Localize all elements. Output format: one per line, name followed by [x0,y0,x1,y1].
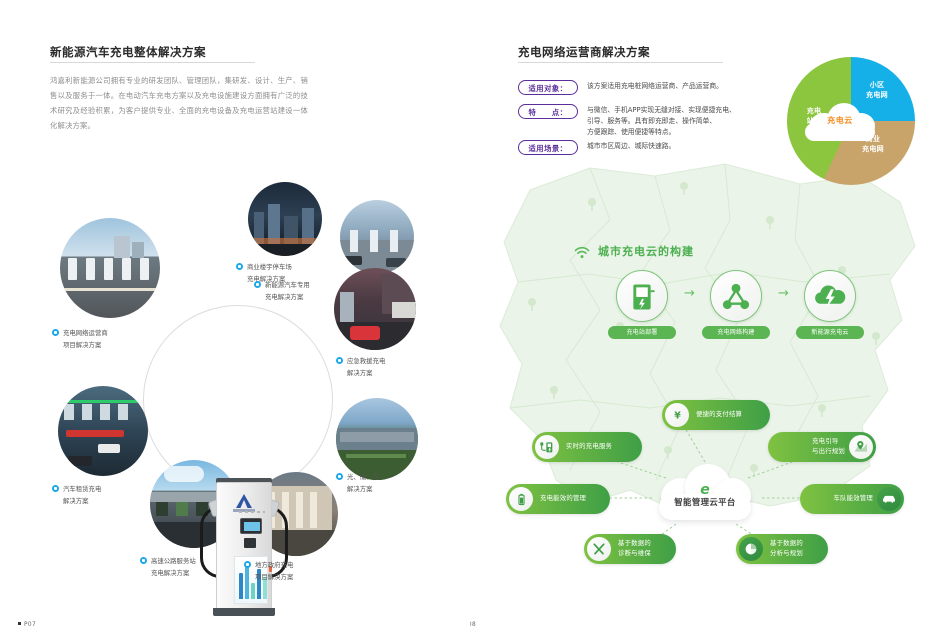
right-page-title: 充电网络运营商解决方案 [518,44,650,60]
caption-car-rental-charging: 汽车租赁充电 解决方案 [52,484,101,508]
capability-label: 充电能效的管理 [540,494,586,504]
capability-realtime-charging-service[interactable]: 实时的充电服务 [532,432,642,462]
cloud-center-badge: 充电云 [801,101,879,141]
brochure-spread: 新能源汽车充电整体解决方案 鸿嘉利新能源公司拥有专业的研发团队、管理团队，集研发… [0,0,940,642]
marker-icon [236,263,243,270]
capability-fleet-efficiency-management[interactable]: 车队能效管理 [800,484,904,514]
capability-energy-efficiency-management[interactable]: 充电能效的管理 [506,484,610,514]
charger-base [213,608,275,616]
capability-data-analysis-planning[interactable]: 基于数据的 分析与规划 [736,534,828,564]
caption-new-energy-vehicle-dedicated: 新能源汽车专用 充电解决方案 [254,280,310,304]
caption-highway-service-area: 高速公路服务站 充电解决方案 [140,556,196,580]
photo-new-energy-vehicle-dedicated [340,200,414,274]
spec-label: 适用对象： [518,80,578,95]
marker-icon [52,485,59,492]
marker-icon [140,557,147,564]
marker-icon [336,473,343,480]
spec-target-audience: 适用对象：该方案适用充电桩网络运营商、产品运营商。 [518,80,723,95]
spec-value: 该方案适用充电桩网络运营商、产品运营商。 [587,80,723,92]
cloud-center-label: 充电云 [801,115,879,126]
marker-icon [52,329,59,336]
charger-display-screen [240,518,262,534]
left-page: 新能源汽车充电整体解决方案 鸿嘉利新能源公司拥有专业的研发团队、管理团队，集研发… [0,0,470,642]
page-number-right: P08 [470,622,476,628]
spec-value: 与微信、手机APP实现无缝对接、实现便捷充电、 引导、服务等。具有即充即走、操作… [587,104,736,138]
section-title: 城市充电云的构建 [598,243,694,259]
capability-label: 车队能效管理 [833,494,873,504]
spec-scenarios: 适用场景：城市市区周边、城际快速路。 [518,140,675,155]
arrow-icon-2: → [778,286,789,301]
capability-label: 实时的充电服务 [566,442,612,452]
pie-chart-icon [739,537,763,561]
caption-charging-network-operator: 充电网络运营商 项目解决方案 [52,328,108,352]
capability-label: 基于数据的 诊断与维保 [618,539,651,558]
marker-icon [254,281,261,288]
left-page-title: 新能源汽车充电整体解决方案 [50,44,206,60]
left-page-body-text: 鸿嘉利新能源公司拥有专业的研发团队、管理团队，集研发、设计、生产、销售以及服务于… [50,74,308,134]
charging-station-illustration [196,478,292,618]
car-icon [877,487,901,511]
tools-icon [587,537,611,561]
step-bubble [710,270,762,322]
caption-local-government-project: 地方政府充电 项目解决方案 [244,560,293,584]
bullet-icon [18,622,21,625]
capability-label: 便捷的支付结算 [696,410,742,420]
caption-emergency-rescue-charging: 应急救援充电 解决方案 [336,356,385,380]
arrow-icon-1: → [684,286,695,301]
step-network-construction: 充电网络构建 [710,270,762,339]
yuan-icon: ¥ [665,403,689,427]
capability-label: 基于数据的 分析与规划 [770,539,803,558]
spec-label: 特 点： [518,104,578,119]
marker-icon [336,357,343,364]
capability-payment-settlement[interactable]: ¥ 便捷的支付结算 [662,400,770,430]
donut-label-community: 小区充电网 [853,81,901,101]
card-reader-icon [244,538,256,548]
spec-value: 城市市区周边、城际快速路。 [587,140,675,152]
capability-charging-guidance[interactable]: 充电引导 与出行规划 [768,432,876,462]
step-label: 充电站部署 [608,326,676,339]
title-divider [50,62,255,63]
wifi-icon [574,244,590,257]
step-bubble [804,270,856,322]
svg-text:¥: ¥ [674,410,681,421]
spec-features: 特 点： 与微信、手机APP实现无缝对接、实现便捷充电、 引导、服务等。具有即充… [518,104,736,138]
step-station-deployment: 充电站部署 [616,270,668,339]
platform-title: 智能管理云平台 [655,496,755,508]
photo-charging-network-operator [60,218,160,318]
right-title-divider [518,62,723,63]
smart-cloud-platform: e 智能管理云平台 [655,462,755,526]
step-label: 充电网络构建 [702,326,770,339]
map-pin-icon [849,435,873,459]
photo-emergency-rescue-charging [334,268,416,350]
step-new-energy-cloud: 新能源充电云 [804,270,856,339]
photo-car-rental-charging [58,386,148,476]
spec-label: 适用场景： [518,140,578,155]
battery-icon [509,487,533,511]
step-label: 新能源充电云 [796,326,864,339]
charging-plug-icon [535,435,559,459]
marker-icon [244,561,251,568]
vent-slots [239,511,265,513]
capability-label: 充电引导 与出行规划 [812,437,845,456]
capability-data-diagnostics-maintenance[interactable]: 基于数据的 诊断与维保 [584,534,676,564]
charging-cloud-donut-chart: 小区充电网 商业充电网 充电站群 充电云 [787,57,915,185]
page-number-left: P07 [18,622,36,628]
caption-pv-storage-charging: 光、储、充 解决方案 [336,472,379,496]
right-page: 充电网络运营商解决方案 适用对象：该方案适用充电桩网络运营商、产品运营商。 特 … [470,0,940,642]
photo-commercial-building-parking [248,182,322,256]
photo-pv-storage-charging [336,398,418,480]
solutions-photo-ring: 商业楼宇停车场 充电解决方案 新能源汽车专用 充电解决方案 充电网络运营商 项目… [18,160,458,600]
step-bubble [616,270,668,322]
